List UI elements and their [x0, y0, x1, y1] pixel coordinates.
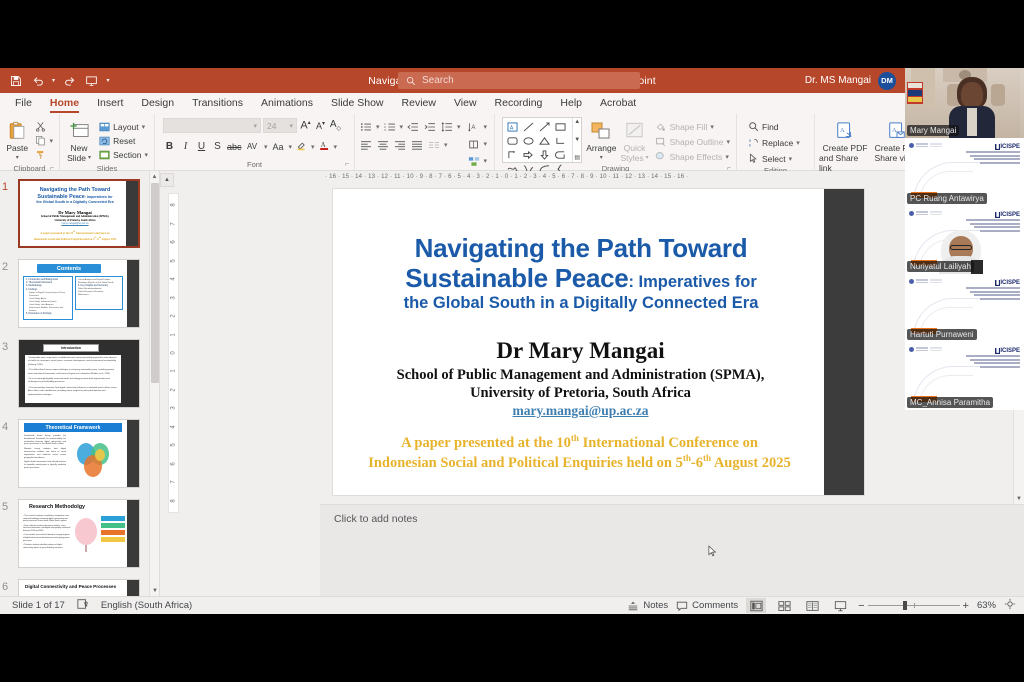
line-shape-icon[interactable]: [520, 120, 536, 134]
font-dialog-launcher[interactable]: ⌐: [345, 159, 349, 170]
vruler-tick: 8: [171, 499, 177, 502]
create-pdf-label-1: Create PDF: [823, 143, 868, 153]
slide-right-black-bar: [824, 189, 864, 495]
gallery-scroll-down-icon[interactable]: ▼: [574, 137, 580, 143]
vruler-tick: 5: [171, 444, 177, 447]
work-area: 1 Navigating the Path Toward Sustainable…: [0, 171, 1024, 596]
change-case-dropdown-icon[interactable]: ▾: [289, 143, 293, 151]
quick-styles-label-2: Styles: [620, 153, 643, 163]
tab-slide-show[interactable]: Slide Show: [322, 95, 393, 112]
svg-text:b: b: [748, 142, 751, 147]
participant-label: MC_Annisa Paramitha: [907, 397, 993, 408]
shape-effects-icon: [655, 151, 667, 163]
slide-author-block[interactable]: Dr Mary Mangai School of Public Manageme…: [353, 337, 808, 419]
icispe-logo: ▮ICISPE: [995, 347, 1020, 354]
thumbnail-4-title: Theoretical Framework: [24, 423, 122, 432]
svg-text:A: A: [840, 127, 845, 134]
paste-icon: [8, 119, 27, 143]
participant-label: Mary Mangai: [907, 125, 959, 136]
numbering-dropdown-icon[interactable]: ▾: [400, 123, 404, 131]
view-slide-show-button[interactable]: [830, 598, 850, 613]
slide-title-line2-bold: Sustainable Peace: [405, 263, 628, 293]
layout-icon: [98, 121, 110, 133]
slide-thumbnail-2[interactable]: 2 Contents 1. Introduction and Backgroun…: [18, 259, 140, 328]
thumbnail-6-title: Digital Connectivity and Peace Processes: [25, 584, 116, 589]
view-slide-sorter-button[interactable]: [774, 598, 794, 613]
copy-button[interactable]: ▾: [32, 134, 55, 147]
bold-button[interactable]: B: [163, 141, 176, 152]
text-shadow-button[interactable]: S: [211, 141, 224, 152]
numbering-icon[interactable]: 123: [383, 121, 397, 134]
shape-effects-button[interactable]: Shape Effects ▾: [653, 150, 732, 163]
thumbnail-black-bar: [127, 500, 139, 567]
paste-button[interactable]: Paste ▾: [4, 117, 30, 163]
letterbox-bottom: [0, 614, 1024, 682]
zoom-slider[interactable]: − +: [858, 600, 969, 612]
vruler-tick: 5: [171, 259, 177, 262]
ribbon-group-paragraph: ▾ 123 ▾ ▾ ▾: [355, 114, 495, 170]
shape-outline-label: Shape Outline: [670, 137, 724, 147]
slide-title-lines: [966, 287, 1020, 301]
select-button[interactable]: Select ▾: [745, 152, 802, 165]
slide-affiliation-line2: University of Pretoria, South Africa: [353, 384, 808, 403]
tab-file[interactable]: File: [6, 95, 41, 112]
slide-sorter-view-icon: [778, 600, 791, 612]
clear-formatting-button[interactable]: A◇: [329, 119, 342, 132]
vruler-tick: 4: [171, 277, 177, 280]
shape-outline-button[interactable]: Shape Outline ▾: [653, 135, 732, 148]
convert-to-smartart-icon[interactable]: [467, 155, 481, 168]
zoom-out-button[interactable]: −: [858, 600, 864, 612]
slide-content: Navigating the Path Toward Sustainable P…: [333, 189, 826, 495]
vruler-tick: 0: [171, 351, 177, 354]
title-bar: ▾ ▾ Navigating the Path Toward Sustainab…: [0, 68, 1024, 93]
tab-recording[interactable]: Recording: [486, 95, 552, 112]
shapes-gallery[interactable]: A: [502, 117, 582, 163]
reset-button[interactable]: Reset: [96, 134, 150, 147]
right-arrow-shape-icon[interactable]: [520, 148, 536, 162]
ribbon-group-font: ▾ 24 ▾ A▴ A▾ A◇ B I U S abc AV: [155, 114, 355, 170]
justify-icon[interactable]: [410, 139, 424, 152]
slide-logo-left: [909, 211, 942, 216]
create-pdf-share-outlook-icon: A: [887, 119, 907, 143]
shape-fill-button[interactable]: Shape Fill ▾: [653, 120, 732, 133]
notes-placeholder: Click to add notes: [334, 513, 417, 525]
character-spacing-button[interactable]: AV: [243, 142, 261, 151]
thumbnail-black-bar: [126, 181, 138, 246]
group-label-font: Font ⌐: [159, 159, 350, 170]
thumbnail-frame-3: Introduction • Sustainable peace represe…: [18, 339, 140, 408]
tab-insert[interactable]: Insert: [88, 95, 132, 112]
zoom-level-label[interactable]: 63%: [977, 600, 996, 611]
quick-access-toolbar: ▾ ▾: [0, 71, 113, 91]
notes-button[interactable]: Notes: [627, 600, 668, 612]
undo-dropdown-icon[interactable]: ▾: [50, 71, 57, 91]
tab-review[interactable]: Review: [393, 95, 445, 112]
align-text-icon[interactable]: [467, 138, 481, 151]
slide-title-line1: Navigating the Path Toward: [361, 233, 801, 263]
search-placeholder: Search: [422, 75, 454, 86]
video-conference-panel[interactable]: Mary Mangai ▮ICISPE PC Ruang Antawirya: [905, 68, 1024, 410]
thumbnail-black-bar: [127, 420, 139, 487]
new-slide-icon: [68, 119, 90, 143]
vruler-tick: 1: [171, 333, 177, 336]
redo-icon[interactable]: [59, 71, 79, 91]
ribbon-group-slides: New Slide▾ Layout ▾ R: [60, 114, 155, 170]
oval-shape-icon[interactable]: [520, 134, 536, 148]
shape-fill-label: Shape Fill: [670, 122, 708, 132]
tab-view[interactable]: View: [445, 95, 486, 112]
replace-button[interactable]: ab Replace ▾: [745, 136, 802, 149]
participant-label: Hartuti Purnaweni: [907, 329, 977, 340]
tab-home[interactable]: Home: [41, 95, 88, 112]
tab-acrobat[interactable]: Acrobat: [591, 95, 645, 112]
font-name-input[interactable]: ▾: [163, 118, 261, 133]
quick-styles-label-1: Quick: [624, 143, 646, 153]
thumbnail-frame-2: Contents 1. Introduction and Background …: [18, 259, 140, 328]
status-bar: Slide 1 of 17 English (South Africa) Not…: [0, 596, 1024, 614]
notes-icon: [627, 600, 639, 612]
collapse-thumbnails-button[interactable]: ▲: [160, 173, 174, 187]
view-normal-button[interactable]: [746, 598, 766, 613]
section-label: Section: [113, 150, 141, 160]
vruler-tick: 2: [171, 314, 177, 317]
video-tile-pc-ruang-antawirya[interactable]: ▮ICISPE PC Ruang Antawirya: [905, 138, 1024, 206]
notes-button-label: Notes: [643, 600, 668, 611]
create-pdf-share-link-icon: A: [835, 119, 855, 143]
slide-affiliation-line1: School of Public Management and Administ…: [353, 366, 808, 385]
replace-label: Replace: [762, 138, 793, 148]
increase-font-size-button[interactable]: A▴: [299, 119, 312, 132]
slide-show-view-icon: [834, 600, 847, 612]
language-label[interactable]: English (South Africa): [101, 600, 192, 611]
slide-title-lines: [966, 151, 1020, 165]
zoom-in-button[interactable]: +: [963, 600, 969, 612]
vruler-tick: 8: [171, 204, 177, 207]
vruler-tick: 7: [171, 222, 177, 225]
thumbnail-2-title: Contents: [37, 264, 101, 273]
slide-canvas[interactable]: Navigating the Path Toward Sustainable P…: [332, 188, 865, 496]
font-color-icon[interactable]: A: [318, 139, 331, 154]
font-color-dropdown-icon[interactable]: ▾: [334, 143, 338, 151]
video-tile-mary-mangai[interactable]: Mary Mangai: [905, 68, 1024, 138]
slide-thumbnail-pane[interactable]: 1 Navigating the Path Toward Sustainable…: [0, 171, 160, 596]
video-tile-mc-annisa-paramitha[interactable]: ▮ICISPE MC_Annisa Paramitha: [905, 342, 1024, 410]
align-right-icon[interactable]: [393, 139, 407, 152]
line-spacing-icon[interactable]: [440, 121, 454, 134]
slide-title[interactable]: Navigating the Path Toward Sustainable P…: [361, 233, 801, 313]
svg-text:A: A: [320, 141, 326, 149]
thumbnail-5-title: Research Methodolgy: [29, 504, 85, 510]
accessibility-icon[interactable]: [77, 598, 89, 613]
text-direction-icon[interactable]: A: [467, 121, 481, 134]
vruler-tick: 2: [171, 388, 177, 391]
save-icon[interactable]: [6, 71, 26, 91]
new-slide-label-1: New: [71, 143, 88, 153]
thumbnail-scroll-handle[interactable]: [151, 183, 159, 383]
increase-indent-icon[interactable]: [423, 121, 437, 134]
create-pdf-and-share-link-button[interactable]: A Create PDF and Share link: [819, 117, 871, 173]
tab-help[interactable]: Help: [551, 95, 591, 112]
arrow-shape-icon[interactable]: [536, 120, 552, 134]
slide-thumbnail-3[interactable]: 3 Introduction • Sustainable peace repre…: [18, 339, 140, 408]
thumbnail-number-6: 6: [2, 581, 8, 593]
triangle-shape-icon[interactable]: [536, 134, 552, 148]
italic-button[interactable]: I: [179, 141, 192, 152]
change-case-button[interactable]: Aa: [271, 142, 286, 152]
slide-footer-block[interactable]: A paper presented at the 10th Internatio…: [335, 433, 824, 473]
bullets-dropdown-icon[interactable]: ▾: [376, 123, 380, 131]
slide-author-name: Dr Mary Mangai: [353, 337, 808, 366]
create-pdf-label-2: and Share link: [819, 153, 871, 173]
replace-icon: ab: [747, 137, 759, 149]
text-highlight-icon[interactable]: [295, 140, 308, 154]
copy-icon: [34, 135, 46, 147]
participant-label: PC Ruang Antawirya: [907, 193, 987, 204]
new-slide-button[interactable]: New Slide▾: [64, 117, 94, 163]
reset-label: Reset: [113, 136, 135, 146]
ribbon-group-clipboard: Paste ▾ ▾: [0, 114, 60, 170]
scissors-icon: [34, 121, 46, 133]
thumbnail-number-1: 1: [2, 181, 8, 193]
thumbnail-number-2: 2: [2, 261, 8, 273]
thumbnail-black-bar: [127, 260, 139, 327]
account-area[interactable]: Dr. MS Mangai DM: [805, 68, 896, 93]
reading-view-icon: [806, 600, 819, 612]
quick-styles-icon: [624, 119, 645, 143]
paste-label: Paste: [6, 143, 28, 153]
thumbnail-number-4: 4: [2, 421, 8, 433]
letterbox-top: [0, 0, 1024, 68]
find-button[interactable]: Find: [745, 120, 802, 133]
new-slide-label-2: Slide: [67, 153, 86, 163]
font-size-input[interactable]: 24 ▾: [263, 118, 297, 133]
vruler-tick: 1: [171, 370, 177, 373]
thumbnail-scrollbar[interactable]: ▲ ▼: [149, 171, 159, 596]
vruler-tick: 7: [171, 481, 177, 484]
slide-thumbnail-1[interactable]: 1 Navigating the Path Toward Sustainable…: [18, 179, 140, 248]
section-button[interactable]: Section ▾: [96, 148, 150, 161]
icispe-logo: ▮ICISPE: [995, 211, 1020, 218]
quick-styles-button[interactable]: Quick Styles▾: [620, 117, 648, 163]
layout-button[interactable]: Layout ▾: [96, 120, 150, 133]
ribbon: Paste ▾ ▾: [0, 114, 1024, 171]
decrease-font-size-button[interactable]: A▾: [314, 120, 327, 131]
slide-email-link[interactable]: mary.mangai@up.ac.za: [353, 403, 808, 419]
notes-pane[interactable]: Click to add notes: [320, 504, 1024, 596]
icispe-logo: ▮ICISPE: [995, 143, 1020, 150]
search-icon: [406, 76, 416, 86]
view-reading-button[interactable]: [802, 598, 822, 613]
line-spacing-dropdown-icon[interactable]: ▾: [457, 123, 461, 131]
decrease-indent-icon[interactable]: [406, 121, 420, 134]
start-presentation-icon[interactable]: [81, 71, 101, 91]
thumbnail-frame-1: Navigating the Path Toward Sustainable P…: [18, 179, 140, 248]
vertical-ruler: 8 7 6 5 4 3 2 1 0 1 2 3 4 5 6 7 8: [168, 193, 179, 513]
slide-scroll-down-icon[interactable]: ▼: [1016, 496, 1022, 502]
format-painter-button[interactable]: [32, 148, 55, 161]
thumbnail-scroll-down-icon[interactable]: ▼: [150, 585, 160, 596]
thumbnail-frame-6: Digital Connectivity and Peace Processes: [18, 579, 140, 596]
slide-logo-left: [909, 279, 942, 284]
customize-qat-icon[interactable]: ▾: [103, 71, 113, 91]
gallery-more-icon[interactable]: ▤: [574, 154, 580, 161]
arrange-button[interactable]: Arrange ▾: [586, 117, 616, 163]
section-icon: [98, 149, 110, 161]
ribbon-group-drawing: A: [495, 114, 737, 170]
tab-animations[interactable]: Animations: [252, 95, 322, 112]
strikethrough-button[interactable]: abc: [227, 142, 240, 152]
flowchart-shape-icon[interactable]: [552, 148, 568, 162]
highlight-dropdown-icon[interactable]: ▾: [311, 143, 315, 151]
layout-label: Layout: [113, 122, 139, 132]
slide-title-lines: [966, 355, 1020, 369]
ribbon-group-editing: Find ab Replace ▾ Select ▾ Editing: [737, 114, 815, 170]
align-center-icon[interactable]: [376, 139, 390, 152]
participant-label: Nuriyatul Lailiyah: [907, 261, 974, 272]
shape-effects-label: Shape Effects: [670, 152, 723, 162]
find-label: Find: [762, 122, 779, 132]
avatar[interactable]: DM: [878, 72, 896, 90]
search-input[interactable]: Search: [398, 72, 640, 89]
comments-button[interactable]: Comments: [676, 600, 738, 612]
thumbnail-frame-5: Research Methodolgy • This research empl…: [18, 499, 140, 568]
vruler-tick: 6: [171, 241, 177, 244]
svg-text:3: 3: [384, 128, 386, 132]
powerpoint-window: ▾ ▾ Navigating the Path Toward Sustainab…: [0, 68, 1024, 614]
thumbnail-frame-4: Theoretical Framework Sustainable peace …: [18, 419, 140, 488]
vruler-tick: 3: [171, 296, 177, 299]
mouse-cursor: [708, 545, 717, 558]
zoom-handle[interactable]: [903, 601, 907, 610]
svg-text:A: A: [892, 127, 897, 134]
thumbnail-number-3: 3: [2, 341, 8, 353]
columns-dropdown-icon[interactable]: ▾: [444, 141, 448, 149]
elbow-arrow-icon[interactable]: [504, 148, 520, 162]
arrange-label: Arrange: [586, 143, 616, 153]
slide-footer-line1: A paper presented at the 10th Internatio…: [335, 433, 824, 453]
ribbon-tabs: File Home Insert Design Transitions Anim…: [0, 93, 1024, 114]
select-icon: [747, 153, 759, 165]
slide-footer-line2: Indonesian Social and Political Enquirie…: [335, 453, 824, 473]
thumbnail-3-title: Introduction: [43, 344, 99, 352]
icispe-logo: ▮ICISPE: [995, 279, 1020, 286]
svg-text:A: A: [471, 125, 475, 131]
slide-editing-pane: ▲ · 16 · 15 · 14 · 13 · 12 · 11 · 10 · 9…: [160, 171, 1024, 596]
tab-design[interactable]: Design: [132, 95, 183, 112]
fit-to-window-icon[interactable]: [1004, 598, 1016, 613]
slide-count-label: Slide 1 of 17: [12, 600, 65, 611]
textbox-shape-icon[interactable]: A: [504, 120, 520, 134]
zoom-track[interactable]: [868, 605, 960, 606]
slide-logo-left: [909, 143, 942, 148]
shape-fill-icon: [655, 121, 667, 133]
elbow-connector-icon[interactable]: [552, 134, 568, 148]
gallery-scroll-up-icon[interactable]: ▲: [574, 119, 580, 125]
vruler-tick: 4: [171, 425, 177, 428]
comments-button-label: Comments: [692, 600, 738, 611]
slide-thumbnail-6[interactable]: 6 Digital Connectivity and Peace Process…: [18, 579, 140, 596]
horizontal-ruler: · 16 · 15 · 14 · 13 · 12 · 11 · 10 · 9 ·…: [325, 171, 870, 182]
thumbnail-number-5: 5: [2, 501, 8, 513]
vruler-tick: 3: [171, 407, 177, 410]
slide-thumbnail-4[interactable]: 4 Theoretical Framework Sustainable peac…: [18, 419, 140, 488]
slide-title-line3: the Global South in a Digitally Connecte…: [361, 294, 801, 313]
reset-icon: [98, 135, 110, 147]
vruler-tick: 6: [171, 462, 177, 465]
rounded-rectangle-shape-icon[interactable]: [504, 134, 520, 148]
shape-outline-icon: [655, 136, 667, 148]
rectangle-shape-icon[interactable]: [552, 120, 568, 134]
normal-view-icon: [750, 600, 763, 612]
align-left-icon[interactable]: [359, 139, 373, 152]
underline-button[interactable]: U: [195, 141, 208, 152]
down-arrow-shape-icon[interactable]: [536, 148, 552, 162]
character-spacing-dropdown-icon[interactable]: ▾: [264, 143, 268, 151]
thumbnail-scroll-up-icon[interactable]: ▲: [150, 171, 159, 182]
comments-icon: [676, 600, 688, 612]
slide-thumbnail-5[interactable]: 5 Research Methodolgy • This research em…: [18, 499, 140, 568]
undo-icon[interactable]: [28, 71, 48, 91]
select-label: Select: [762, 154, 786, 164]
zoom-center-tick: [914, 603, 915, 608]
find-icon: [747, 121, 759, 133]
format-painter-icon: [34, 149, 46, 161]
columns-icon[interactable]: [427, 139, 441, 152]
video-tile-hartuti-purnaweni[interactable]: ▮ICISPE Hartuti Purnaweni: [905, 274, 1024, 342]
svg-text:A: A: [509, 125, 513, 131]
copy-dropdown-icon[interactable]: ▾: [49, 137, 53, 145]
thumbnail-black-bar: [127, 580, 139, 596]
tab-transitions[interactable]: Transitions: [183, 95, 252, 112]
slide-title-line2-rest: : Imperatives for: [628, 273, 756, 291]
bullets-icon[interactable]: [359, 121, 373, 134]
video-panel-scrollbar[interactable]: [1020, 68, 1024, 410]
account-name: Dr. MS Mangai: [805, 75, 871, 86]
arrange-icon: [590, 119, 612, 143]
shapes-gallery-scrollbar[interactable]: ▲ ▼ ▤: [572, 118, 581, 162]
video-tile-nuriyatul-lailiyah[interactable]: ▮ICISPE Nuriyatul Lailiyah: [905, 206, 1024, 274]
slide-logo-left: [909, 347, 942, 352]
font-size-value: 24: [267, 121, 276, 131]
cut-button[interactable]: [32, 120, 55, 133]
